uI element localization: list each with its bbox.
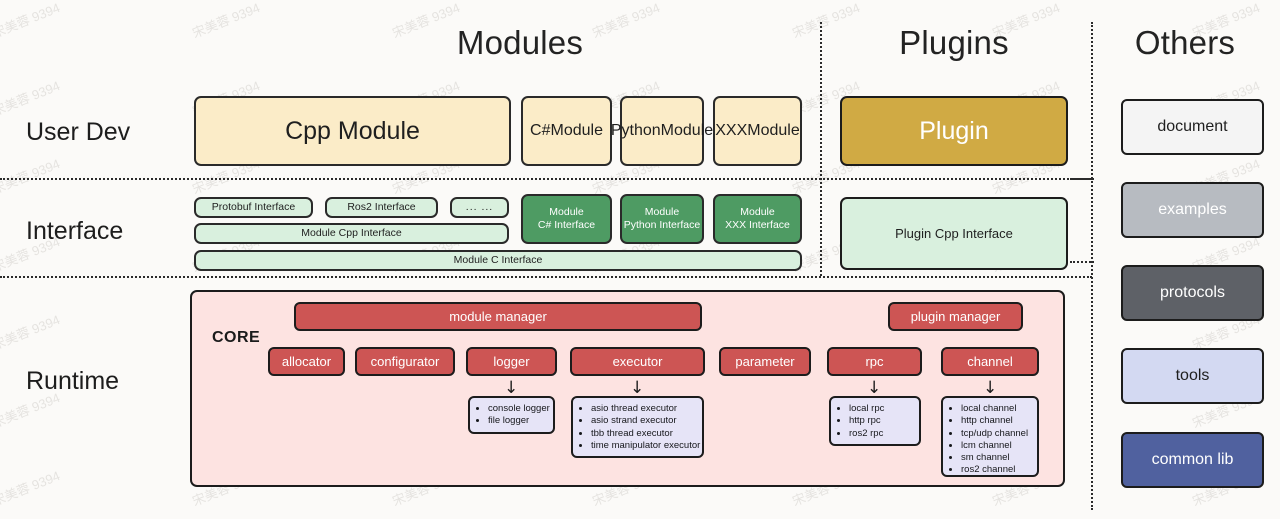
detail-list-item: sm channel [961,452,1031,464]
box-plugin-manager[interactable]: plugin manager [888,302,1023,331]
box-configurator[interactable]: configurator [355,347,455,376]
watermark-text: 宋美蓉 9394 [0,465,63,509]
box-line: Module [747,121,799,141]
box-common-lib[interactable]: common lib [1121,432,1264,488]
box-line: Python Interface [624,219,700,232]
box-line: Module [740,206,774,219]
divider-plugins-others [1091,22,1093,510]
box-module-manager[interactable]: module manager [294,302,702,331]
column-title-plugins: Plugins [838,24,1070,62]
box-module-csharp-interface[interactable]: Module C# Interface [521,194,612,244]
detail-list-item: tbb thread executor [591,428,696,440]
detail-list-item: http channel [961,415,1031,427]
detail-list-channel: local channelhttp channeltcp/udp channel… [941,396,1039,477]
box-module-cpp-interface[interactable]: Module Cpp Interface [194,223,509,244]
arrow-down-icon: ↓ [867,378,881,398]
box-ros2-interface[interactable]: Ros2 Interface [325,197,438,218]
box-document[interactable]: document [1121,99,1264,155]
arrow-down-icon: ↓ [504,378,518,398]
box-rpc[interactable]: rpc [827,347,922,376]
row-label-interface: Interface [26,217,123,246]
box-line: Module [645,206,679,219]
detail-list-item: lcm channel [961,440,1031,452]
box-line: XXX Interface [725,219,790,232]
watermark-text: 宋美蓉 9394 [0,0,63,42]
diagram-canvas: 宋美蓉 9394宋美蓉 9394宋美蓉 9394宋美蓉 9394宋美蓉 9394… [0,0,1280,519]
box-module-c-interface[interactable]: Module C Interface [194,250,802,271]
box-csharp-module[interactable]: C# Module [521,96,612,166]
watermark-text: 宋美蓉 9394 [0,75,63,119]
column-title-modules: Modules [330,24,710,62]
box-cpp-module[interactable]: Cpp Module [194,96,511,166]
detail-list-item: file logger [488,415,547,427]
box-module-python-interface[interactable]: Module Python Interface [620,194,704,244]
row-label-runtime: Runtime [26,367,119,396]
detail-list: local rpchttp rpcros2 rpc [835,403,913,440]
box-line: Python [611,121,661,141]
detail-list-item: asio strand executor [591,415,696,427]
detail-list-executor: asio thread executorasio strand executor… [571,396,704,458]
detail-list-logger: console loggerfile logger [468,396,555,434]
core-label: CORE [212,329,260,347]
box-allocator[interactable]: allocator [268,347,345,376]
box-protocols[interactable]: protocols [1121,265,1264,321]
detail-list-item: tcp/udp channel [961,428,1031,440]
arrow-down-icon: ↓ [983,378,997,398]
box-channel[interactable]: channel [941,347,1039,376]
divider-modules-plugins [820,22,822,276]
box-line: C# [530,121,550,141]
watermark-text: 宋美蓉 9394 [0,309,63,353]
detail-list-rpc: local rpchttp rpcros2 rpc [829,396,921,446]
detail-list: console loggerfile logger [474,403,547,428]
detail-list-item: ros2 rpc [849,428,913,440]
box-examples[interactable]: examples [1121,182,1264,238]
watermark-text: 宋美蓉 9394 [189,0,262,42]
column-title-others: Others [1100,24,1270,62]
box-line: Module [550,121,602,141]
divider-interface-runtime [0,276,1092,278]
detail-list-item: local channel [961,403,1031,415]
detail-list-item: console logger [488,403,547,415]
arrow-down-icon: ↓ [630,378,644,398]
detail-list-item: ros2 channel [961,464,1031,476]
box-plugin[interactable]: Plugin [840,96,1068,166]
box-line: Module [661,121,713,141]
box-line: XXX [715,121,747,141]
box-plugin-cpp-interface[interactable]: Plugin Cpp Interface [840,197,1068,270]
box-module-xxx-interface[interactable]: Module XXX Interface [713,194,802,244]
detail-list: local channelhttp channeltcp/udp channel… [947,403,1031,477]
watermark-text: 宋美蓉 9394 [0,153,63,197]
detail-list-item: time manipulator executor [591,440,696,452]
box-line: C# Interface [538,219,595,232]
box-line: Module [549,206,583,219]
box-tools[interactable]: tools [1121,348,1264,404]
box-parameter[interactable]: parameter [719,347,811,376]
box-protobuf-interface[interactable]: Protobuf Interface [194,197,313,218]
detail-list-item: http rpc [849,415,913,427]
detail-list: asio thread executorasio strand executor… [577,403,696,452]
box-ellipsis-interface[interactable]: ... ... [450,197,509,218]
row-label-user-dev: User Dev [26,118,130,147]
detail-list-item: asio thread executor [591,403,696,415]
box-logger[interactable]: logger [466,347,557,376]
box-python-module[interactable]: Python Module [620,96,704,166]
box-xxx-module[interactable]: XXX Module [713,96,802,166]
detail-list-item: local rpc [849,403,913,415]
box-executor[interactable]: executor [570,347,705,376]
divider-user-dev-interface [0,178,1092,180]
